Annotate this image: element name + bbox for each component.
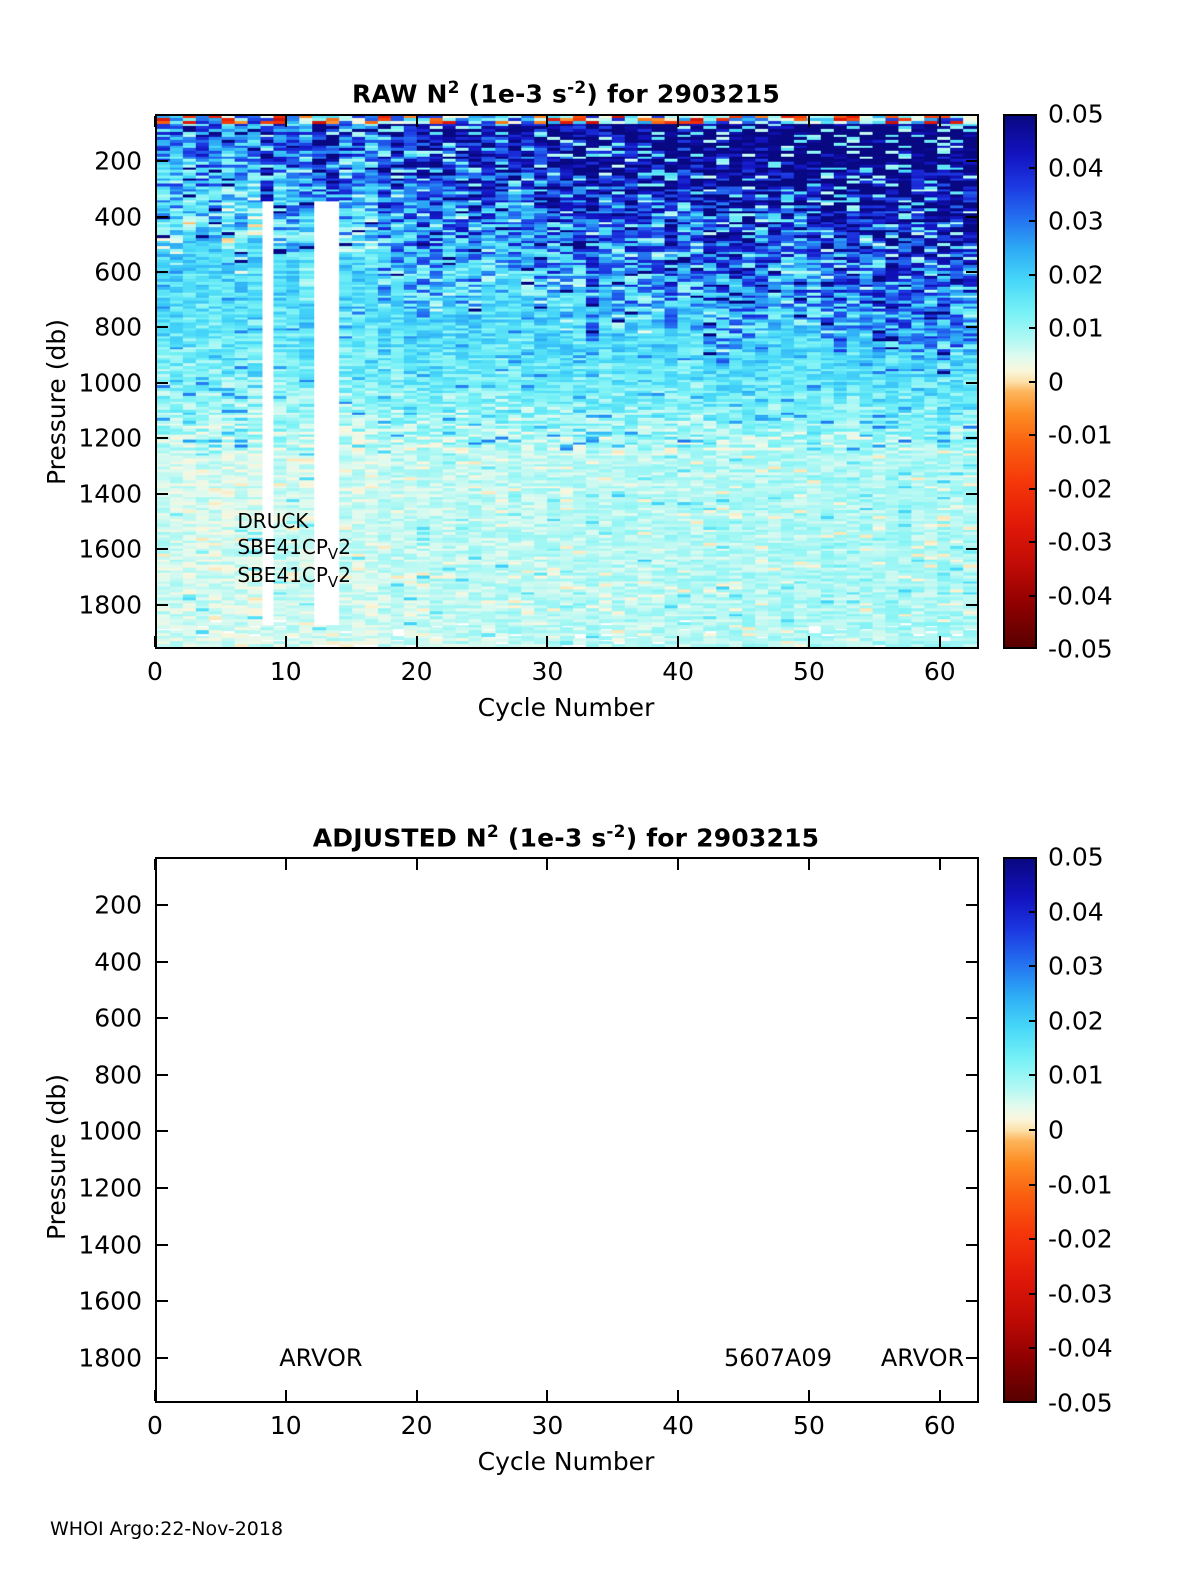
xtick-mark-top [285, 116, 287, 127]
colorbar-tick-label: 0.05 [1048, 843, 1104, 872]
ytick-mark [157, 382, 168, 384]
colorbar-tick-mark [1029, 1293, 1037, 1295]
xtick-mark [677, 636, 679, 647]
colorbar-tick-label: 0.04 [1048, 897, 1104, 926]
colorbar-tick-mark [1029, 488, 1037, 490]
ytick-label: 800 [10, 313, 142, 342]
xtick-mark-top [546, 116, 548, 127]
xtick-mark [154, 1390, 156, 1401]
ytick-mark-right [966, 1244, 977, 1246]
colorbar-tick-label: -0.02 [1048, 474, 1113, 503]
xtick-mark [154, 636, 156, 647]
ytick-mark-right [966, 1074, 977, 1076]
ytick-mark-right [966, 216, 977, 218]
xtick-label: 0 [147, 1411, 163, 1440]
colorbar-tick-label: 0 [1048, 367, 1064, 396]
ytick-label: 1200 [10, 1173, 142, 1202]
ytick-label: 1000 [10, 368, 142, 397]
colorbar-tick-mark [1029, 220, 1037, 222]
ytick-mark-right [966, 1017, 977, 1019]
xtick-label: 10 [270, 1411, 302, 1440]
xtick-label: 0 [147, 657, 163, 686]
ytick-mark-right [966, 548, 977, 550]
colorbar-tick-mark [1029, 595, 1037, 597]
xtick-mark [285, 1390, 287, 1401]
ytick-mark [157, 437, 168, 439]
colorbar-tick-mark [1029, 1347, 1037, 1349]
xtick-label: 50 [793, 657, 825, 686]
colorbar-tick-mark [1029, 381, 1037, 383]
colorbar-tick-mark [1029, 541, 1037, 543]
colorbar-tick-label: 0.01 [1048, 314, 1104, 343]
ytick-mark [157, 1130, 168, 1132]
ytick-mark-right [966, 382, 977, 384]
colorbar-tick-mark [1029, 1129, 1037, 1131]
ytick-mark-right [966, 1130, 977, 1132]
colorbar-tick-label: 0.02 [1048, 260, 1104, 289]
xtick-label: 10 [270, 657, 302, 686]
ytick-mark [157, 216, 168, 218]
ytick-label: 600 [10, 258, 142, 287]
ytick-mark-right [966, 904, 977, 906]
colorbar-tick-label: 0.04 [1048, 153, 1104, 182]
xtick-label: 30 [531, 1411, 563, 1440]
xtick-mark [546, 636, 548, 647]
xtick-mark [939, 636, 941, 647]
colorbar-tick-mark [1029, 965, 1037, 967]
xtick-mark [808, 636, 810, 647]
adjusted-plot-title: ADJUSTED N2 (1e-3 s-2) for 2903215 [313, 822, 820, 852]
colorbar-tick-label: 0.03 [1048, 207, 1104, 236]
xtick-mark-top [416, 859, 418, 870]
xtick-mark [285, 636, 287, 647]
ytick-mark [157, 604, 168, 606]
raw-plot-title: RAW N2 (1e-3 s-2) for 2903215 [352, 78, 780, 108]
xtick-mark [546, 1390, 548, 1401]
xtick-label: 50 [793, 1411, 825, 1440]
ytick-label: 1400 [10, 1230, 142, 1259]
xtick-mark-top [808, 116, 810, 127]
xtick-mark-top [154, 116, 156, 127]
colorbar-tick-label: -0.05 [1048, 1389, 1113, 1418]
colorbar-tick-label: 0.01 [1048, 1061, 1104, 1090]
colorbar-tick-mark [1029, 274, 1037, 276]
ytick-mark [157, 548, 168, 550]
ytick-label: 1000 [10, 1117, 142, 1146]
ytick-mark-right [966, 1357, 977, 1359]
colorbar-tick-label: -0.05 [1048, 635, 1113, 664]
xtick-mark-top [416, 116, 418, 127]
ytick-label: 1400 [10, 479, 142, 508]
colorbar-tick-label: 0.02 [1048, 1006, 1104, 1035]
adjusted-xaxis-label: Cycle Number [478, 1447, 655, 1476]
adjusted-plot-area [155, 857, 979, 1403]
colorbar-tick-label: -0.02 [1048, 1225, 1113, 1254]
xtick-mark [416, 1390, 418, 1401]
ytick-label: 600 [10, 1004, 142, 1033]
colorbar-tick-label: -0.01 [1048, 1170, 1113, 1199]
xtick-mark-top [677, 116, 679, 127]
xtick-label: 40 [662, 657, 694, 686]
ytick-mark-right [966, 271, 977, 273]
ytick-mark-right [966, 961, 977, 963]
plot-annotation: SBE41CPV2 [237, 535, 351, 563]
xtick-label: 60 [924, 1411, 956, 1440]
xtick-label: 30 [531, 657, 563, 686]
colorbar-tick-mark [1029, 1074, 1037, 1076]
ytick-mark [157, 1074, 168, 1076]
ytick-mark [157, 1244, 168, 1246]
ytick-mark [157, 1300, 168, 1302]
ytick-mark [157, 326, 168, 328]
colorbar-tick-mark [1029, 434, 1037, 436]
colorbar-tick-mark [1029, 1184, 1037, 1186]
plot-annotation: SBE41CPV2 [237, 563, 351, 591]
ytick-mark-right [966, 604, 977, 606]
xtick-mark [416, 636, 418, 647]
plot-annotation: ARVOR [881, 1344, 964, 1372]
xtick-label: 60 [924, 657, 956, 686]
ytick-mark-right [966, 1187, 977, 1189]
xtick-mark [939, 1390, 941, 1401]
xtick-label: 40 [662, 1411, 694, 1440]
ytick-mark-right [966, 160, 977, 162]
colorbar-tick-mark [1029, 1020, 1037, 1022]
xtick-mark-top [154, 859, 156, 870]
ytick-label: 400 [10, 202, 142, 231]
ytick-label: 200 [10, 147, 142, 176]
adjusted-yaxis-label: Pressure (db) [42, 1074, 71, 1240]
colorbar-tick-mark [1029, 327, 1037, 329]
xtick-mark-top [808, 859, 810, 870]
xtick-mark-top [285, 859, 287, 870]
ytick-mark [157, 1017, 168, 1019]
ytick-mark [157, 1187, 168, 1189]
colorbar-tick-label: -0.04 [1048, 1334, 1113, 1363]
colorbar-tick-mark [1029, 911, 1037, 913]
ytick-mark [157, 271, 168, 273]
colorbar-tick-label: -0.03 [1048, 528, 1113, 557]
raw-xaxis-label: Cycle Number [478, 693, 655, 722]
colorbar-tick-label: -0.01 [1048, 421, 1113, 450]
ytick-mark-right [966, 493, 977, 495]
ytick-mark [157, 493, 168, 495]
ytick-mark [157, 160, 168, 162]
xtick-mark-top [546, 859, 548, 870]
ytick-mark-right [966, 326, 977, 328]
ytick-label: 1800 [10, 590, 142, 619]
ytick-label: 1600 [10, 535, 142, 564]
raw-yaxis-label: Pressure (db) [42, 319, 71, 485]
ytick-mark-right [966, 437, 977, 439]
xtick-mark-top [939, 116, 941, 127]
xtick-mark [808, 1390, 810, 1401]
xtick-label: 20 [401, 1411, 433, 1440]
xtick-mark-top [939, 859, 941, 870]
ytick-mark [157, 961, 168, 963]
xtick-mark [677, 1390, 679, 1401]
ytick-label: 1600 [10, 1287, 142, 1316]
xtick-mark-top [677, 859, 679, 870]
ytick-label: 1800 [10, 1343, 142, 1372]
plot-annotation: 5607A09 [724, 1344, 832, 1372]
colorbar-tick-mark [1029, 1238, 1037, 1240]
ytick-label: 800 [10, 1060, 142, 1089]
colorbar-tick-label: 0 [1048, 1116, 1064, 1145]
plot-annotation: ARVOR [279, 1344, 362, 1372]
colorbar-tick-mark [1029, 167, 1037, 169]
xtick-label: 20 [401, 657, 433, 686]
colorbar-tick-label: -0.04 [1048, 581, 1113, 610]
colorbar-tick-label: 0.03 [1048, 952, 1104, 981]
colorbar-tick-label: -0.03 [1048, 1279, 1113, 1308]
ytick-mark-right [966, 1300, 977, 1302]
plot-annotation: DRUCK [237, 509, 308, 533]
ytick-mark [157, 904, 168, 906]
colorbar-tick-label: 0.05 [1048, 100, 1104, 129]
ytick-mark [157, 1357, 168, 1359]
ytick-label: 1200 [10, 424, 142, 453]
ytick-label: 400 [10, 947, 142, 976]
ytick-label: 200 [10, 891, 142, 920]
figure-footer: WHOI Argo:22-Nov-2018 [50, 1518, 283, 1540]
